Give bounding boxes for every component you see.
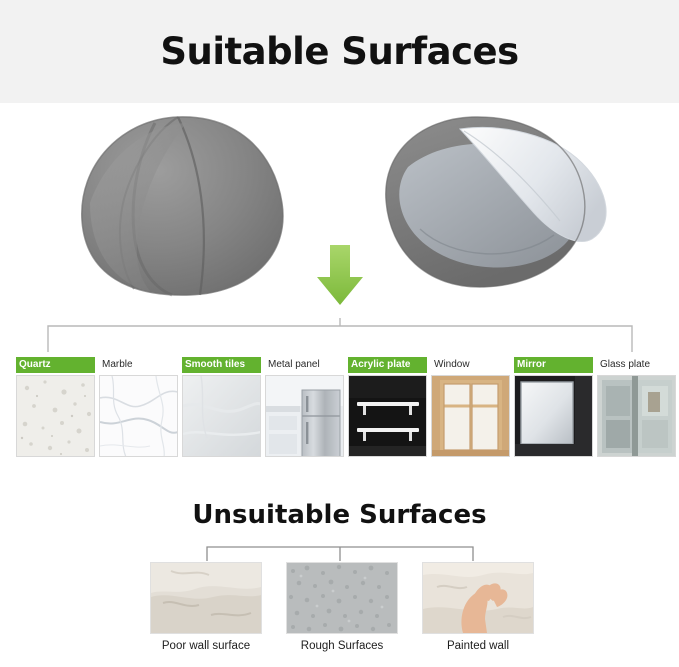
unsuitable-item-poor-wall: Poor wall surface [150,562,262,662]
surface-tile-window: Window [431,357,510,469]
surface-tile-metal-panel: Metal panel [265,357,344,469]
surface-tile-smooth-tiles: Smooth tiles [182,357,261,469]
surface-label-window: Window [431,357,510,373]
product-image-closed [60,103,320,303]
surface-label-metal-panel: Metal panel [265,357,344,373]
suitable-surfaces-row: Quartz Marble [16,357,664,469]
unsuitable-image-painted-wall [422,562,534,634]
surface-image-glass-plate [597,375,676,457]
unsuitable-bracket [203,541,477,563]
page-title: Suitable Surfaces [160,30,518,73]
unsuitable-image-rough-surfaces [286,562,398,634]
surface-tile-glass-plate: Glass plate [597,357,676,469]
surface-label-acrylic-plate: Acrylic plate [348,357,427,373]
surface-image-mirror [514,375,593,457]
unsuitable-caption-painted-wall: Painted wall [422,640,534,652]
unsuitable-surfaces-row: Poor wall surface [150,562,550,662]
product-image-open [368,109,638,299]
suitable-bracket [40,318,640,354]
down-arrow-icon [316,245,364,307]
surface-image-smooth-tiles [182,375,261,457]
surface-tile-quartz: Quartz [16,357,95,469]
surface-image-window [431,375,510,457]
surface-tile-marble: Marble [99,357,178,469]
unsuitable-caption-poor-wall: Poor wall surface [150,640,262,652]
surface-label-glass-plate: Glass plate [597,357,676,373]
surface-image-marble [99,375,178,457]
unsuitable-item-painted-wall: Painted wall [422,562,534,662]
surface-label-marble: Marble [99,357,178,373]
unsuitable-image-poor-wall [150,562,262,634]
unsuitable-title: Unsuitable Surfaces [0,500,679,530]
surface-tile-mirror: Mirror [514,357,593,469]
surface-tile-acrylic-plate: Acrylic plate [348,357,427,469]
header-banner: Suitable Surfaces [0,0,679,103]
surface-label-smooth-tiles: Smooth tiles [182,357,261,373]
surface-image-acrylic-plate [348,375,427,457]
unsuitable-caption-rough-surfaces: Rough Surfaces [286,640,398,652]
surface-image-metal-panel [265,375,344,457]
unsuitable-item-rough-surfaces: Rough Surfaces [286,562,398,662]
surface-label-quartz: Quartz [16,357,95,373]
surface-label-mirror: Mirror [514,357,593,373]
surface-image-quartz [16,375,95,457]
